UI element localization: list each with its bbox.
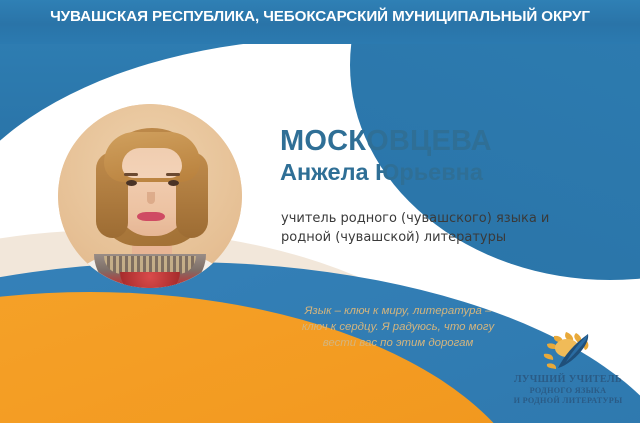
quote-line-1: Язык – ключ к миру, литература – bbox=[278, 303, 518, 319]
person-role: учитель родного (чувашского) языка и род… bbox=[281, 209, 571, 247]
person-firstname-patronymic: Анжела Юрьевна bbox=[280, 159, 492, 186]
person-name-block: МОСКОВЦЕВА Анжела Юрьевна bbox=[280, 126, 492, 186]
page-title: ЧУВАШСКАЯ РЕСПУБЛИКА, ЧЕБОКСАРСКИЙ МУНИЦ… bbox=[0, 8, 640, 25]
award-logo-line-3: И РОДНОЙ ЛИТЕРАТУРЫ bbox=[508, 396, 628, 406]
person-role-line-2: родной (чувашской) литературы bbox=[281, 228, 571, 247]
avatar-eye-right bbox=[168, 180, 179, 186]
award-logo-line-2: РОДНОГО ЯЗЫКА bbox=[508, 386, 628, 396]
teacher-profile-poster: ЧУВАШСКАЯ РЕСПУБЛИКА, ЧЕБОКСАРСКИЙ МУНИЦ… bbox=[0, 0, 640, 426]
quote-line-2: ключ к сердцу. Я радуюсь, что могу bbox=[278, 319, 518, 335]
personal-motto-quote: Язык – ключ к миру, литература – ключ к … bbox=[278, 303, 518, 351]
header-band: ЧУВАШСКАЯ РЕСПУБЛИКА, ЧЕБОКСАРСКИЙ МУНИЦ… bbox=[0, 0, 640, 44]
person-role-line-1: учитель родного (чувашского) языка и bbox=[281, 209, 571, 228]
avatar-collar-red-panel bbox=[120, 272, 180, 288]
award-logo: ЛУЧШИЙ УЧИТЕЛЬ РОДНОГО ЯЗЫКА И РОДНОЙ ЛИ… bbox=[508, 328, 628, 406]
avatar-eyebrow-right bbox=[166, 173, 180, 176]
avatar-nose bbox=[147, 192, 155, 204]
avatar-eye-left bbox=[126, 180, 137, 186]
quote-line-3: вести вас по этим дорогам bbox=[278, 335, 518, 351]
sun-and-quill-icon bbox=[508, 328, 628, 374]
avatar-eyebrow-left bbox=[124, 173, 138, 176]
avatar-lips bbox=[137, 212, 165, 221]
person-surname: МОСКОВЦЕВА bbox=[280, 126, 492, 157]
award-logo-line-1: ЛУЧШИЙ УЧИТЕЛЬ bbox=[508, 374, 628, 386]
avatar bbox=[58, 104, 242, 288]
